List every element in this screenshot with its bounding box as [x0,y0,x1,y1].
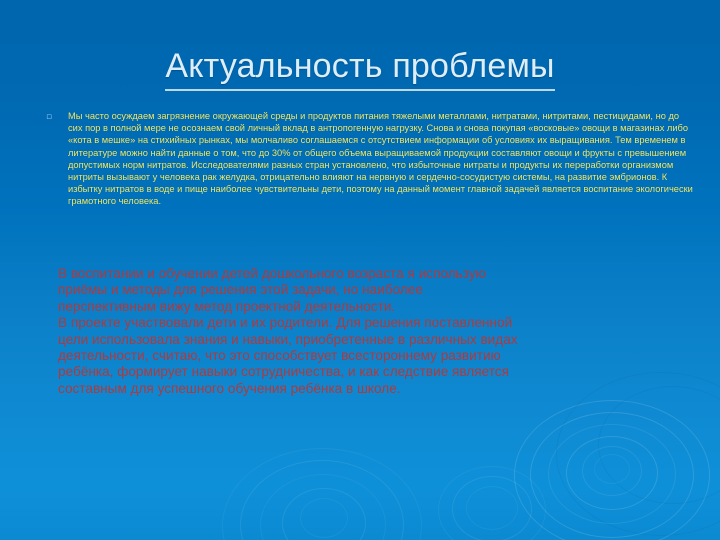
ripple-ring [594,454,630,484]
ripple-ring [598,386,720,504]
ripple-ring [452,476,532,540]
paragraph-line: приёмы и методы для решения этой задачи,… [58,282,668,298]
ripple-ring [530,412,694,538]
ripple-ring [222,448,422,540]
slide-title: Актуальность проблемы [0,44,720,91]
ripple-ring [282,488,366,540]
paragraph-text-primary: Мы часто осуждаем загрязнение окружающей… [68,110,696,208]
ripple-ring [566,436,658,510]
paragraph-block-secondary: В воспитании и обучении детей дошкольног… [58,266,668,397]
ripple-ring [300,498,348,538]
bullet-marker-icon: ▫ [46,110,68,123]
ripple-ring [514,400,710,540]
page-title: Актуальность проблемы [165,44,554,91]
ripple-ring [240,460,404,540]
paragraph-line: В воспитании и обучении детей дошкольног… [58,266,668,282]
paragraph-line: составным для успешного обучения ребёнка… [58,381,668,397]
ripple-ring [260,474,386,540]
paragraph-line: ребёнка, формирует навыки сотрудничества… [58,364,668,380]
paragraph-line: деятельности, считаю, что это способству… [58,348,668,364]
ripple-ring [466,486,518,530]
ripple-ring [582,446,642,496]
paragraph-line: перспективным вижу метод проектной деяте… [58,299,668,315]
paragraph-line: цели использовала знания и навыки, приоб… [58,332,668,348]
paragraph-line: В проекте участвовали дети и их родители… [58,315,668,331]
ripple-ring [548,424,676,524]
ripple-ring [438,466,546,540]
bulleted-paragraph: ▫ Мы часто осуждаем загрязнение окружающ… [46,110,696,208]
presentation-slide: Актуальность проблемы ▫ Мы часто осуждае… [0,0,720,540]
